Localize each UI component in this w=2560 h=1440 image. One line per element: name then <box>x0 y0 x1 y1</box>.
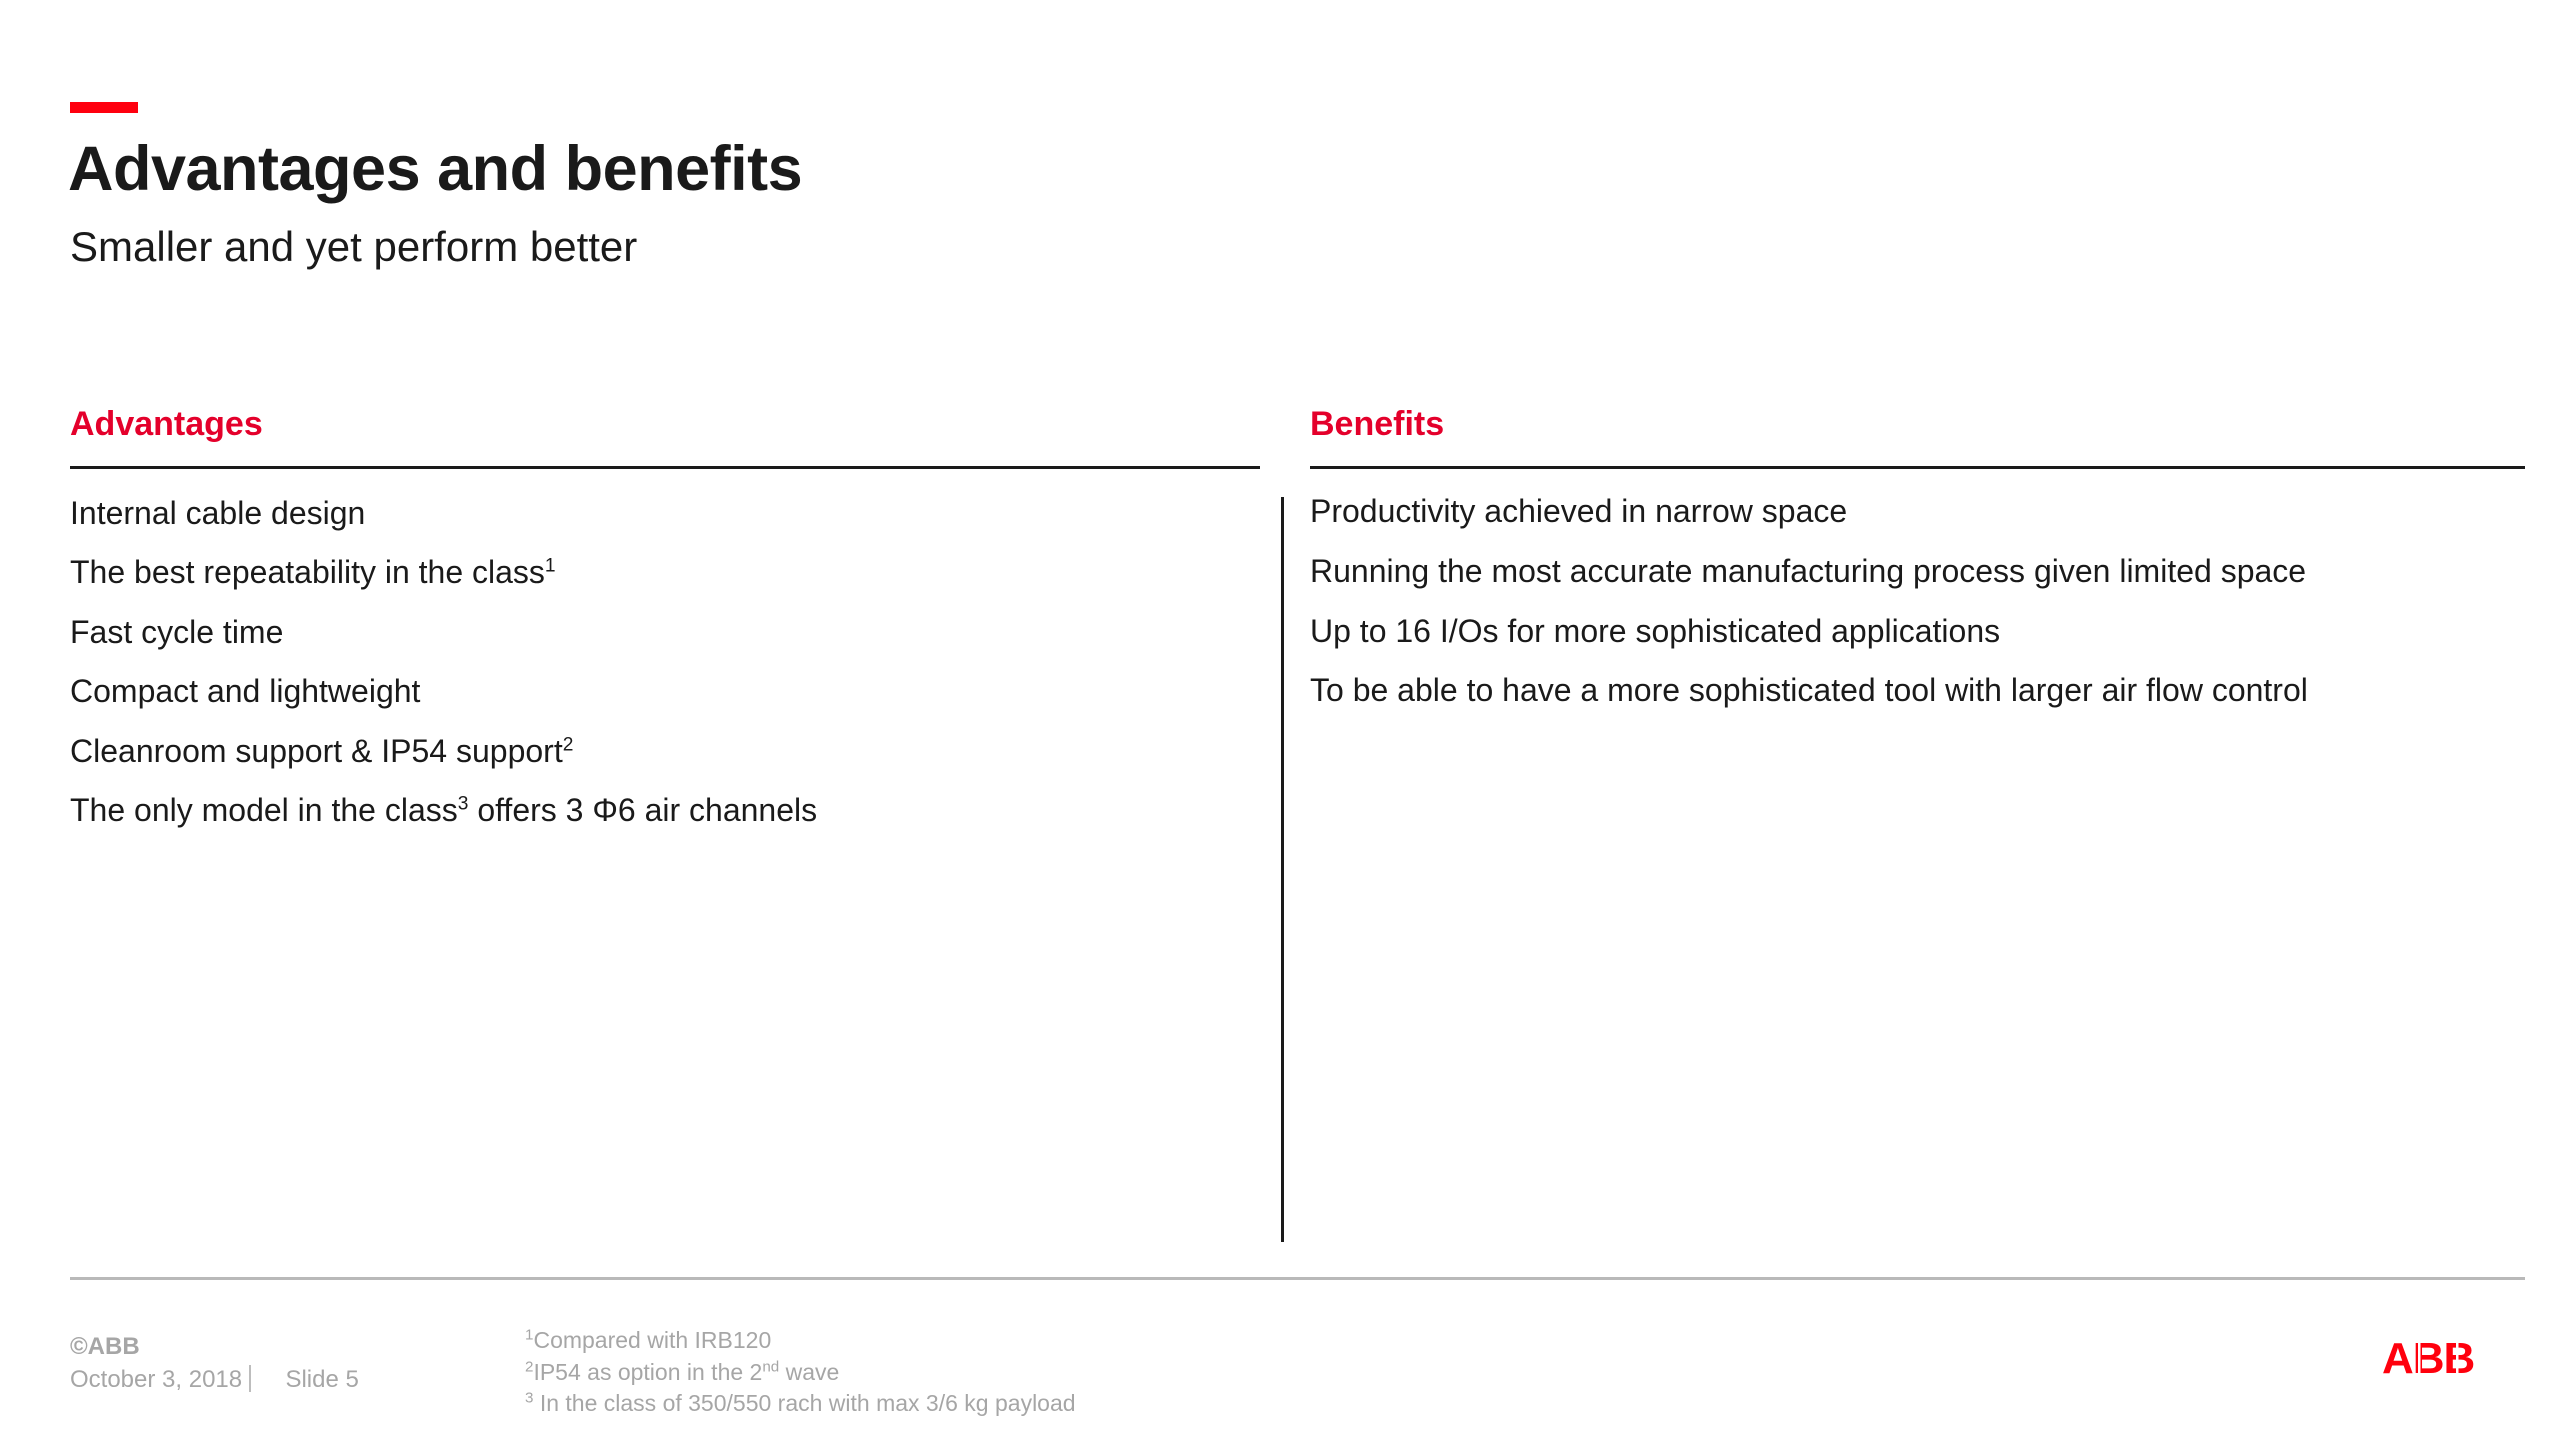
ordinal-suffix: nd <box>762 1358 779 1375</box>
advantage-item: Compact and lightweight <box>70 672 1260 710</box>
advantage-item: Fast cycle time <box>70 613 1260 651</box>
abb-logo-slash-3 <box>2494 1339 2497 1377</box>
page-title: Advantages and benefits <box>68 136 802 202</box>
advantage-item: The best repeatability in the class1 <box>70 553 1260 591</box>
footer-date: October 3, 2018 <box>70 1363 242 1396</box>
column-divider <box>1281 497 1284 1242</box>
footnote-marker: 3 <box>525 1390 533 1407</box>
benefits-heading: Benefits <box>1310 405 2525 444</box>
footnotes: 1Compared with IRB1202IP54 as option in … <box>525 1325 1076 1420</box>
copyright-label: ©ABB <box>70 1330 359 1363</box>
footnote-marker: 2 <box>525 1358 533 1375</box>
advantages-list: Internal cable designThe best repeatabil… <box>70 494 1260 829</box>
footer-divider <box>70 1277 2525 1280</box>
benefit-item: Running the most accurate manufacturing … <box>1310 553 2525 591</box>
benefit-item: To be able to have a more sophisticated … <box>1310 672 2525 710</box>
advantages-column: Advantages Internal cable designThe best… <box>70 405 1260 850</box>
footnote-marker: 3 <box>458 793 469 814</box>
abb-logo: ABB <box>2382 1336 2527 1380</box>
footnote-marker: 1 <box>525 1326 533 1343</box>
benefits-list: Productivity achieved in narrow spaceRun… <box>1310 493 2525 710</box>
benefit-item: Productivity achieved in narrow space <box>1310 493 2525 531</box>
advantages-rule <box>70 466 1260 469</box>
advantage-item: The only model in the class3 offers 3 Φ6… <box>70 791 1260 829</box>
advantage-item: Internal cable design <box>70 494 1260 532</box>
footnote: 1Compared with IRB120 <box>525 1325 1076 1357</box>
footnote: 2IP54 as option in the 2nd wave <box>525 1357 1076 1389</box>
footnote: 3 In the class of 350/550 rach with max … <box>525 1388 1076 1420</box>
footnote-marker: 2 <box>563 734 574 755</box>
red-accent-bar <box>70 102 138 113</box>
page-subtitle: Smaller and yet perform better <box>70 224 637 270</box>
footer-second-line: October 3, 2018 Slide 5 <box>70 1363 359 1396</box>
abb-logo-slash-1 <box>2418 1339 2421 1377</box>
benefits-rule <box>1310 466 2525 469</box>
footer-meta: ©ABB October 3, 2018 Slide 5 <box>70 1330 359 1396</box>
benefits-column: Benefits Productivity achieved in narrow… <box>1310 405 2525 732</box>
footnote-marker: 1 <box>545 556 556 577</box>
footer: ©ABB October 3, 2018 Slide 5 1Compared w… <box>70 1330 2525 1440</box>
slide: Advantages and benefits Smaller and yet … <box>0 0 2560 1440</box>
benefit-item: Up to 16 I/Os for more sophisticated app… <box>1310 613 2525 651</box>
advantages-heading: Advantages <box>70 405 1260 444</box>
slide-number: Slide 5 <box>285 1363 358 1396</box>
abb-logo-text: ABB <box>2382 1336 2474 1380</box>
advantage-item: Cleanroom support & IP54 support2 <box>70 732 1260 770</box>
footer-separator <box>249 1365 251 1392</box>
abb-logo-slash-2 <box>2456 1339 2459 1377</box>
